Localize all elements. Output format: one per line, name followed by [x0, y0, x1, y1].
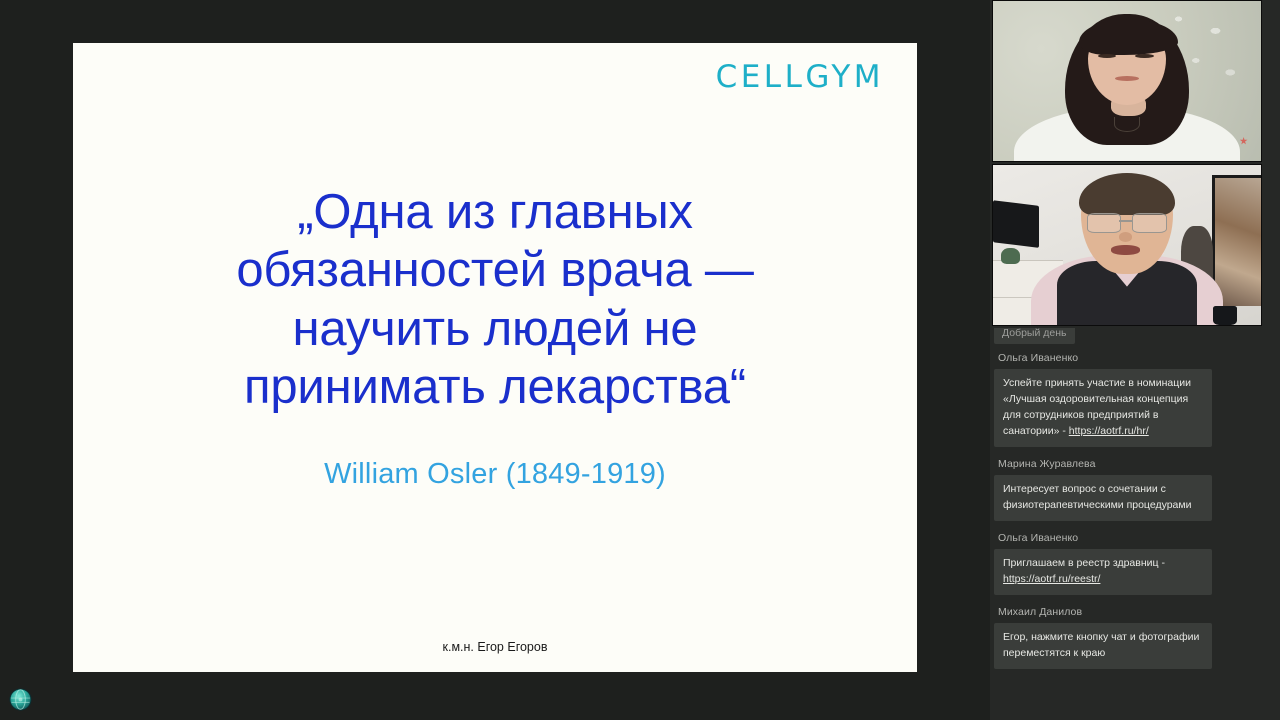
chat-message-author: Ольга Иваненко: [998, 352, 1272, 364]
slide-footer-author: к.м.н. Егор Егоров: [73, 640, 917, 654]
chat-message-bubble[interactable]: Приглашаем в реестр здравниц - https://a…: [994, 549, 1212, 595]
participant-1-eye-left: [1098, 54, 1117, 58]
quote-attribution: William Osler (1849-1919): [133, 458, 857, 491]
dark-cup: [1213, 306, 1237, 325]
chat-message-bubble[interactable]: Егор, нажмите кнопку чат и фотографии пе…: [994, 623, 1212, 669]
slide-canvas: CELLGYM „Одна из главных обязанностей вр…: [73, 43, 917, 672]
wall-picture-frame: [1212, 175, 1261, 306]
chat-message-bubble[interactable]: Интересует вопрос о сочетании с физиотер…: [994, 475, 1212, 521]
chat-message: Марина Журавлева Интересует вопрос о соч…: [994, 458, 1272, 521]
participant-1-eye-right: [1135, 54, 1154, 58]
chat-message-author: Ольга Иваненко: [998, 532, 1272, 544]
chat-message: Михаил Данилов Егор, нажмите кнопку чат …: [994, 606, 1272, 669]
chat-message-author: Михаил Данилов: [998, 606, 1272, 618]
participant-2-mouth: [1111, 245, 1140, 255]
participant-2-nose: [1119, 232, 1132, 242]
participant-1-necklace: [1114, 117, 1140, 132]
wall-tv: [993, 201, 1039, 248]
chat-message: Ольга Иваненко Успейте принять участие в…: [994, 352, 1272, 447]
quote-line-2: обязанностей врача —: [133, 241, 857, 299]
chat-message-text: Интересует вопрос о сочетании с физиотер…: [1003, 483, 1191, 511]
quote-block: „Одна из главных обязанностей врача — на…: [73, 183, 917, 491]
chat-message-link[interactable]: https://aotrf.ru/hr/: [1069, 425, 1149, 437]
chat-message: Ольга Иваненко Приглашаем в реестр здрав…: [994, 532, 1272, 595]
chat-message-text: Егор, нажмите кнопку чат и фотографии пе…: [1003, 631, 1199, 659]
quote-line-3: научить людей не: [133, 300, 857, 358]
video-tile-participant-2[interactable]: [992, 164, 1262, 326]
globe-app-icon[interactable]: [9, 688, 32, 711]
chat-message-link[interactable]: https://aotrf.ru/reestr/: [1003, 573, 1100, 585]
right-sidebar: Добрый день Ольга Иваненко Успейте приня…: [990, 0, 1280, 720]
cellgym-logo: CELLGYM: [716, 59, 884, 95]
chat-message-text: Приглашаем в реестр здравниц -: [1003, 557, 1165, 569]
quote-line-1: „Одна из главных: [133, 183, 857, 241]
quote-line-4: принимать лекарства“: [133, 358, 857, 416]
chat-message-clipped: Добрый день: [994, 328, 1075, 344]
participant-2-glasses-right: [1132, 213, 1166, 233]
participant-2-glasses-left: [1087, 213, 1121, 233]
chat-message-bubble[interactable]: Успейте принять участие в номинации «Луч…: [994, 369, 1212, 447]
participant-1-fringe: [1079, 20, 1178, 55]
chat-message-list: Ольга Иваненко Успейте принять участие в…: [990, 352, 1280, 680]
chat-panel[interactable]: Добрый день Ольга Иваненко Успейте приня…: [990, 328, 1280, 720]
participant-2-glasses-bridge: [1119, 220, 1132, 222]
presentation-stage: CELLGYM „Одна из главных обязанностей вр…: [0, 0, 990, 720]
video-tile-participant-1[interactable]: [992, 0, 1262, 162]
webinar-window: CELLGYM „Одна из главных обязанностей вр…: [0, 0, 1280, 720]
chat-message-author: Марина Журавлева: [998, 458, 1272, 470]
plant: [1001, 248, 1020, 264]
